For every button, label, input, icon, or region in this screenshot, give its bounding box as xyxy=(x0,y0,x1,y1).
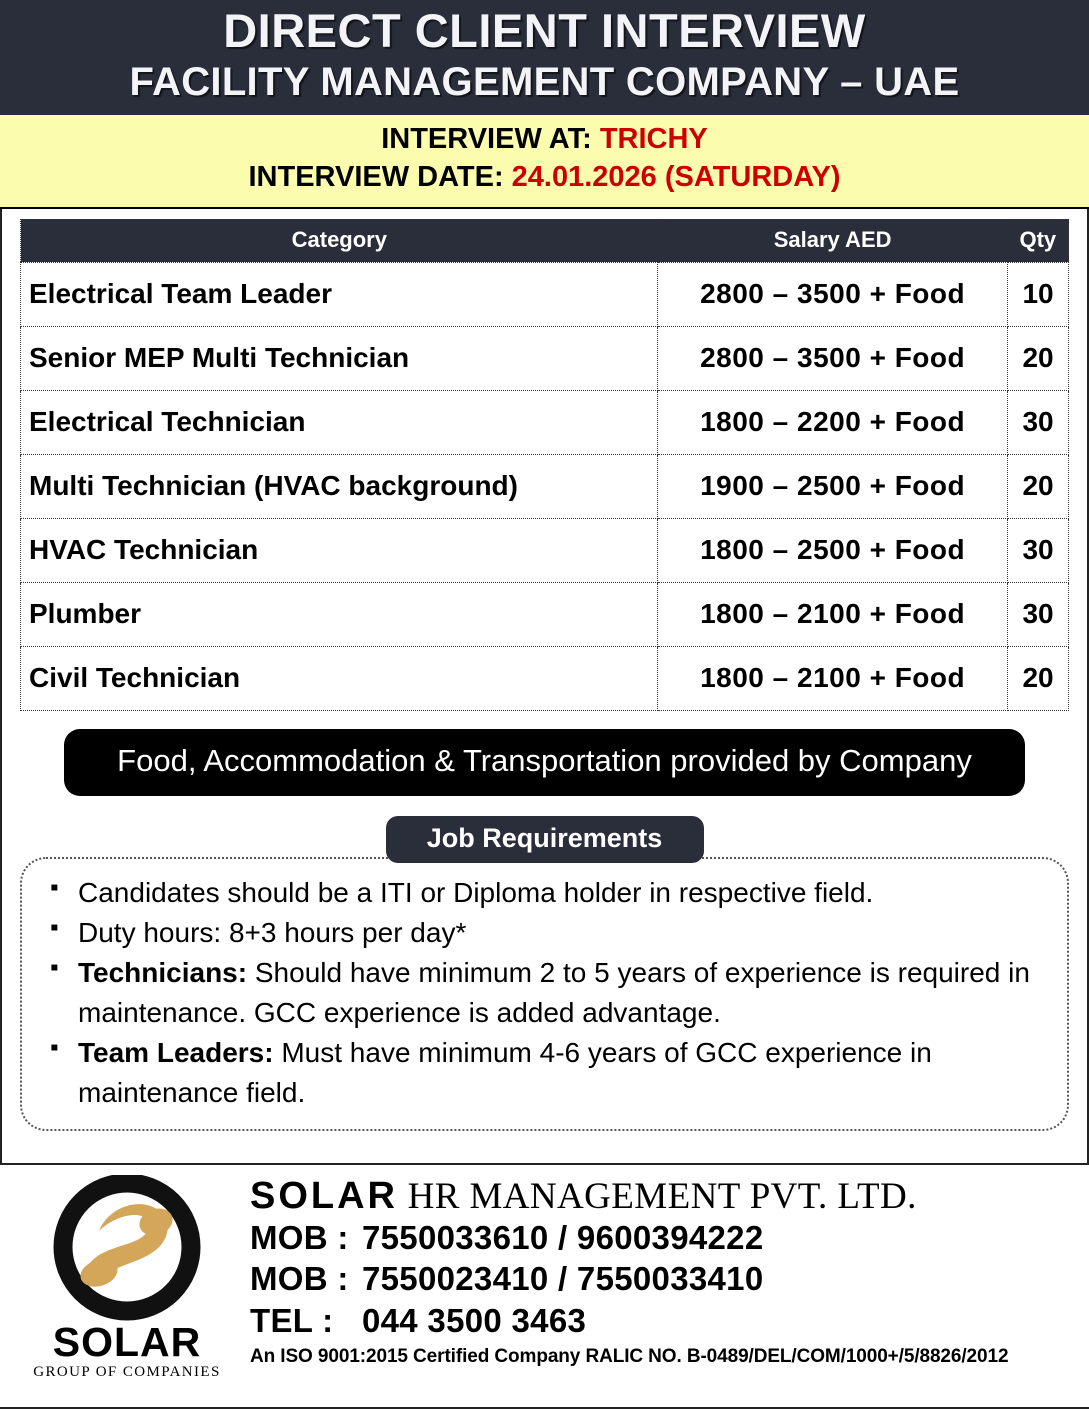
cell-salary: 2800 – 3500 + Food xyxy=(658,262,1008,326)
cell-qty: 30 xyxy=(1008,582,1069,646)
logo-wordmark: SOLAR xyxy=(14,1323,240,1362)
cell-salary: 1800 – 2200 + Food xyxy=(658,390,1008,454)
cell-qty: 30 xyxy=(1008,518,1069,582)
cell-salary: 1800 – 2100 + Food xyxy=(658,582,1008,646)
contact-value[interactable]: 7550023410 / 7550033410 xyxy=(362,1260,763,1297)
company-brand: SOLAR xyxy=(250,1175,398,1217)
cell-qty: 10 xyxy=(1008,262,1069,326)
table-row: Multi Technician (HVAC background)1900 –… xyxy=(21,454,1069,518)
header-title-secondary: FACILITY MANAGEMENT COMPANY – UAE xyxy=(0,59,1089,105)
table-row: Electrical Technician1800 – 2200 + Food3… xyxy=(21,390,1069,454)
contact-label: TEL : xyxy=(250,1300,362,1342)
interview-details-band: INTERVIEW AT: TRICHY INTERVIEW DATE: 24.… xyxy=(0,115,1089,208)
contact-line: MOB :7550033610 / 9600394222 xyxy=(250,1217,1079,1259)
column-header-category: Category xyxy=(21,219,658,262)
header-title-primary: DIRECT CLIENT INTERVIEW xyxy=(0,6,1089,55)
cell-category: HVAC Technician xyxy=(21,518,658,582)
cell-qty: 30 xyxy=(1008,390,1069,454)
contact-label: MOB : xyxy=(250,1217,362,1259)
logo-tagline: GROUP OF COMPANIES xyxy=(14,1364,240,1381)
requirement-lead: Technicians: xyxy=(78,957,247,988)
interview-date-value: 24.01.2026 (SATURDAY) xyxy=(512,161,841,193)
iso-certification-text: An ISO 9001:2015 Certified Company RALIC… xyxy=(250,1346,1079,1368)
table-row: HVAC Technician1800 – 2500 + Food30 xyxy=(21,518,1069,582)
poster-header: DIRECT CLIENT INTERVIEW FACILITY MANAGEM… xyxy=(0,0,1089,115)
table-row: Electrical Team Leader2800 – 3500 + Food… xyxy=(21,262,1069,326)
contact-label: MOB : xyxy=(250,1258,362,1300)
column-header-salary: Salary AED xyxy=(658,219,1008,262)
cell-category: Plumber xyxy=(21,582,658,646)
requirement-item: Candidates should be a ITI or Diploma ho… xyxy=(40,873,1049,913)
interview-location-label: INTERVIEW AT: xyxy=(381,123,592,155)
company-logo: SOLAR GROUP OF COMPANIES xyxy=(14,1171,240,1381)
cell-salary: 2800 – 3500 + Food xyxy=(658,326,1008,390)
requirement-lead: Team Leaders: xyxy=(78,1037,274,1068)
requirement-text: Duty hours: 8+3 hours per day* xyxy=(78,917,466,948)
requirement-item: Technicians: Should have minimum 2 to 5 … xyxy=(40,953,1049,1033)
company-name-line: SOLAR HR MANAGEMENT PVT. LTD. xyxy=(250,1177,1079,1217)
poster-footer: SOLAR GROUP OF COMPANIES SOLAR HR MANAGE… xyxy=(0,1163,1089,1409)
job-advertisement-poster: DIRECT CLIENT INTERVIEW FACILITY MANAGEM… xyxy=(0,0,1089,1409)
solar-ring-logo-icon xyxy=(43,1175,211,1325)
cell-salary: 1800 – 2500 + Food xyxy=(658,518,1008,582)
cell-category: Electrical Technician xyxy=(21,390,658,454)
table-row: Plumber1800 – 2100 + Food30 xyxy=(21,582,1069,646)
table-header-row: Category Salary AED Qty xyxy=(21,219,1069,262)
interview-location-row: INTERVIEW AT: TRICHY xyxy=(0,121,1089,159)
contact-line: TEL :044 3500 3463 xyxy=(250,1300,1079,1342)
contact-value[interactable]: 044 3500 3463 xyxy=(362,1302,586,1339)
cell-category: Senior MEP Multi Technician xyxy=(21,326,658,390)
cell-salary: 1900 – 2500 + Food xyxy=(658,454,1008,518)
cell-category: Civil Technician xyxy=(21,646,658,710)
cell-qty: 20 xyxy=(1008,326,1069,390)
requirement-item: Duty hours: 8+3 hours per day* xyxy=(40,913,1049,953)
contact-details: SOLAR HR MANAGEMENT PVT. LTD. MOB :75500… xyxy=(250,1171,1079,1368)
requirements-list: Candidates should be a ITI or Diploma ho… xyxy=(40,873,1049,1113)
table-row: Civil Technician1800 – 2100 + Food20 xyxy=(21,646,1069,710)
interview-date-row: INTERVIEW DATE: 24.01.2026 (SATURDAY) xyxy=(0,159,1089,197)
interview-date-label: INTERVIEW DATE: xyxy=(249,161,504,193)
column-header-qty: Qty xyxy=(1008,219,1069,262)
table-row: Senior MEP Multi Technician2800 – 3500 +… xyxy=(21,326,1069,390)
perks-banner: Food, Accommodation & Transportation pro… xyxy=(64,729,1025,796)
interview-location-value: TRICHY xyxy=(600,123,708,155)
contact-value[interactable]: 7550033610 / 9600394222 xyxy=(362,1219,763,1256)
vacancy-table: Category Salary AED Qty Electrical Team … xyxy=(20,219,1069,711)
cell-category: Multi Technician (HVAC background) xyxy=(21,454,658,518)
requirements-section: Job Requirements Candidates should be a … xyxy=(20,816,1069,1131)
cell-qty: 20 xyxy=(1008,646,1069,710)
cell-category: Electrical Team Leader xyxy=(21,262,658,326)
requirement-text: Candidates should be a ITI or Diploma ho… xyxy=(78,877,873,908)
cell-salary: 1800 – 2100 + Food xyxy=(658,646,1008,710)
poster-body: Category Salary AED Qty Electrical Team … xyxy=(0,209,1089,1163)
company-legal-name: HR MANAGEMENT PVT. LTD. xyxy=(408,1176,917,1217)
requirement-item: Team Leaders: Must have minimum 4-6 year… xyxy=(40,1033,1049,1113)
cell-qty: 20 xyxy=(1008,454,1069,518)
contact-line: MOB :7550023410 / 7550033410 xyxy=(250,1258,1079,1300)
requirements-box: Candidates should be a ITI or Diploma ho… xyxy=(20,857,1069,1131)
requirements-badge: Job Requirements xyxy=(386,816,704,863)
